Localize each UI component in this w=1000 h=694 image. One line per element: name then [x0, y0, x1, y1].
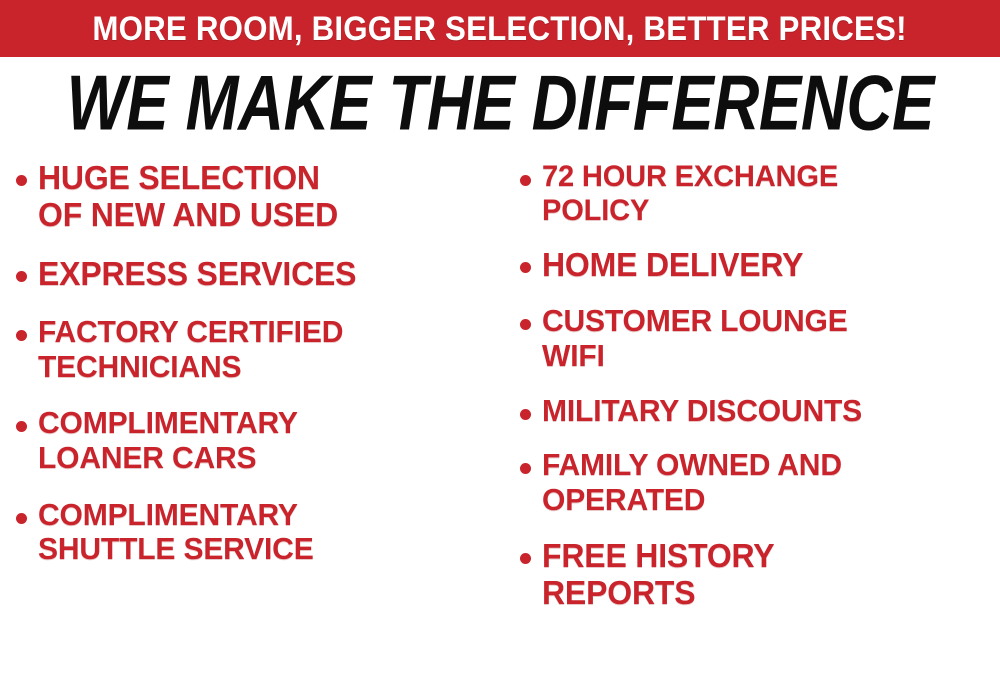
bullet-dot-icon: [520, 262, 531, 273]
bullet-dot-icon: [520, 175, 531, 186]
benefits-column-left: HUGE SELECTION OF NEW AND USED EXPRESS S…: [0, 152, 500, 589]
benefit-express-services: EXPRESS SERVICES: [38, 256, 356, 293]
benefits-column-right: 72 HOUR EXCHANGE POLICY HOME DELIVERY CU…: [500, 152, 1000, 632]
headline-section: WE MAKE THE DIFFERENCE: [0, 62, 1000, 144]
banner-headline-text: MORE ROOM, BIGGER SELECTION, BETTER PRIC…: [93, 12, 907, 46]
bullet-dot-icon: [16, 513, 27, 524]
list-item: HUGE SELECTION OF NEW AND USED: [16, 160, 500, 234]
benefit-huge-selection: HUGE SELECTION OF NEW AND USED: [38, 160, 338, 234]
list-item: HOME DELIVERY: [520, 247, 1000, 284]
benefit-family-owned-and-operated: FAMILY OWNED AND OPERATED: [542, 448, 842, 517]
page-title: WE MAKE THE DIFFERENCE: [66, 64, 933, 142]
bullet-dot-icon: [520, 463, 531, 474]
benefit-complimentary-shuttle-service: COMPLIMENTARY SHUTTLE SERVICE: [38, 498, 314, 567]
list-item: FACTORY CERTIFIED TECHNICIANS: [16, 315, 500, 384]
bullet-dot-icon: [520, 409, 531, 420]
list-item: EXPRESS SERVICES: [16, 256, 500, 293]
list-item: COMPLIMENTARY LOANER CARS: [16, 406, 500, 475]
bullet-dot-icon: [16, 330, 27, 341]
list-item: FAMILY OWNED AND OPERATED: [520, 448, 1000, 517]
benefit-factory-certified-technicians: FACTORY CERTIFIED TECHNICIANS: [38, 315, 343, 384]
bullet-dot-icon: [16, 175, 27, 186]
bullet-dot-icon: [520, 553, 531, 564]
top-banner: MORE ROOM, BIGGER SELECTION, BETTER PRIC…: [0, 0, 1000, 57]
list-item: CUSTOMER LOUNGE WIFI: [520, 304, 1000, 373]
bullet-dot-icon: [16, 421, 27, 432]
list-item: 72 HOUR EXCHANGE POLICY: [520, 160, 1000, 227]
list-item: MILITARY DISCOUNTS: [520, 394, 1000, 429]
benefit-home-delivery: HOME DELIVERY: [542, 247, 803, 284]
benefit-free-history-reports: FREE HISTORY REPORTS: [542, 538, 774, 612]
benefit-customer-lounge-wifi: CUSTOMER LOUNGE WIFI: [542, 304, 848, 373]
promotional-poster: MORE ROOM, BIGGER SELECTION, BETTER PRIC…: [0, 0, 1000, 694]
benefit-72-hour-exchange-policy: 72 HOUR EXCHANGE POLICY: [542, 160, 838, 227]
benefits-columns: HUGE SELECTION OF NEW AND USED EXPRESS S…: [0, 152, 1000, 694]
benefit-complimentary-loaner-cars: COMPLIMENTARY LOANER CARS: [38, 406, 298, 475]
bullet-dot-icon: [520, 319, 531, 330]
benefit-military-discounts: MILITARY DISCOUNTS: [542, 394, 862, 429]
list-item: FREE HISTORY REPORTS: [520, 538, 1000, 612]
bullet-dot-icon: [16, 271, 27, 282]
list-item: COMPLIMENTARY SHUTTLE SERVICE: [16, 498, 500, 567]
